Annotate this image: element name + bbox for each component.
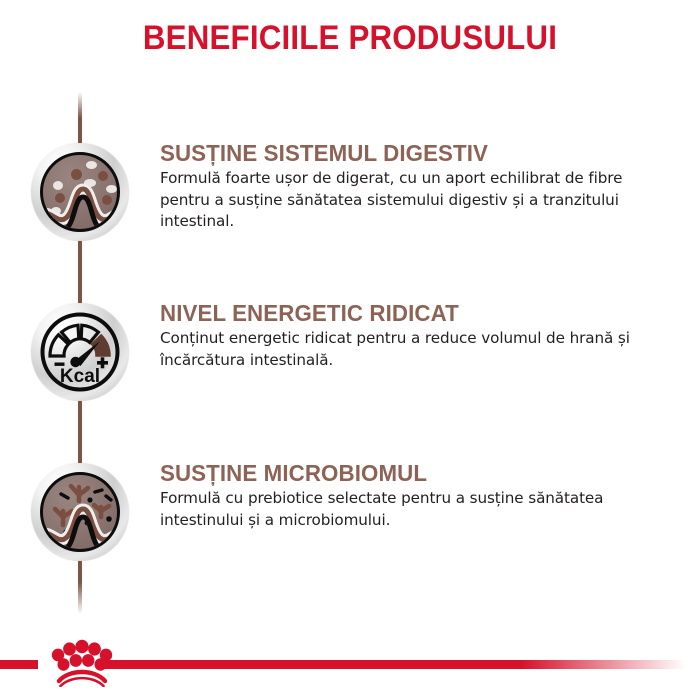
benefits-infographic-page: BENEFICIILE PRODUSULUI	[0, 0, 700, 700]
benefit-item-energy: Kcal NIVEL ENERGETIC RIDICAT Conținut en…	[0, 300, 700, 420]
benefit-description: Conținut energetic ridicat pentru a redu…	[160, 328, 668, 371]
royal-canin-crown-logo	[44, 635, 120, 687]
benefit-text-block: SUSȚINE SISTEMUL DIGESTIV Formulă foarte…	[160, 140, 680, 233]
benefit-heading: SUSȚINE MICROBIOMUL	[160, 460, 664, 486]
kcal-gauge-icon: Kcal	[31, 303, 129, 401]
page-title: BENEFICIILE PRODUSULUI	[28, 18, 672, 58]
bacteria-shapes	[43, 475, 120, 552]
benefit-description: Formulă cu prebiotice selectate pentru a…	[160, 488, 668, 531]
microbiome-icon	[31, 463, 129, 561]
footer-rule-right	[96, 660, 686, 669]
benefit-icon-wrapper	[31, 143, 129, 241]
intestine-wave-lines	[43, 155, 120, 232]
benefit-description: Formulă foarte ușor de digerat, cu un ap…	[160, 168, 668, 233]
benefit-icon-wrapper: Kcal	[31, 303, 129, 401]
benefit-item-digestive: SUSȚINE SISTEMUL DIGESTIV Formulă foarte…	[0, 140, 700, 260]
digestive-icon-interior	[40, 152, 120, 232]
kcal-label: Kcal	[60, 366, 100, 387]
benefit-heading: NIVEL ENERGETIC RIDICAT	[160, 300, 664, 326]
microbiome-icon-interior	[40, 472, 120, 552]
benefit-text-block: SUSȚINE MICROBIOMUL Formulă cu prebiotic…	[160, 460, 680, 531]
benefit-text-block: NIVEL ENERGETIC RIDICAT Conținut energet…	[160, 300, 680, 371]
footer-rule-left	[0, 660, 38, 669]
footer	[0, 630, 700, 700]
benefit-item-microbiome: SUSȚINE MICROBIOMUL Formulă cu prebiotic…	[0, 460, 700, 580]
benefit-icon-wrapper	[31, 463, 129, 561]
benefit-heading: SUSȚINE SISTEMUL DIGESTIV	[160, 140, 664, 166]
kcal-gauge-graphic: Kcal	[40, 312, 120, 392]
digestive-system-icon	[31, 143, 129, 241]
